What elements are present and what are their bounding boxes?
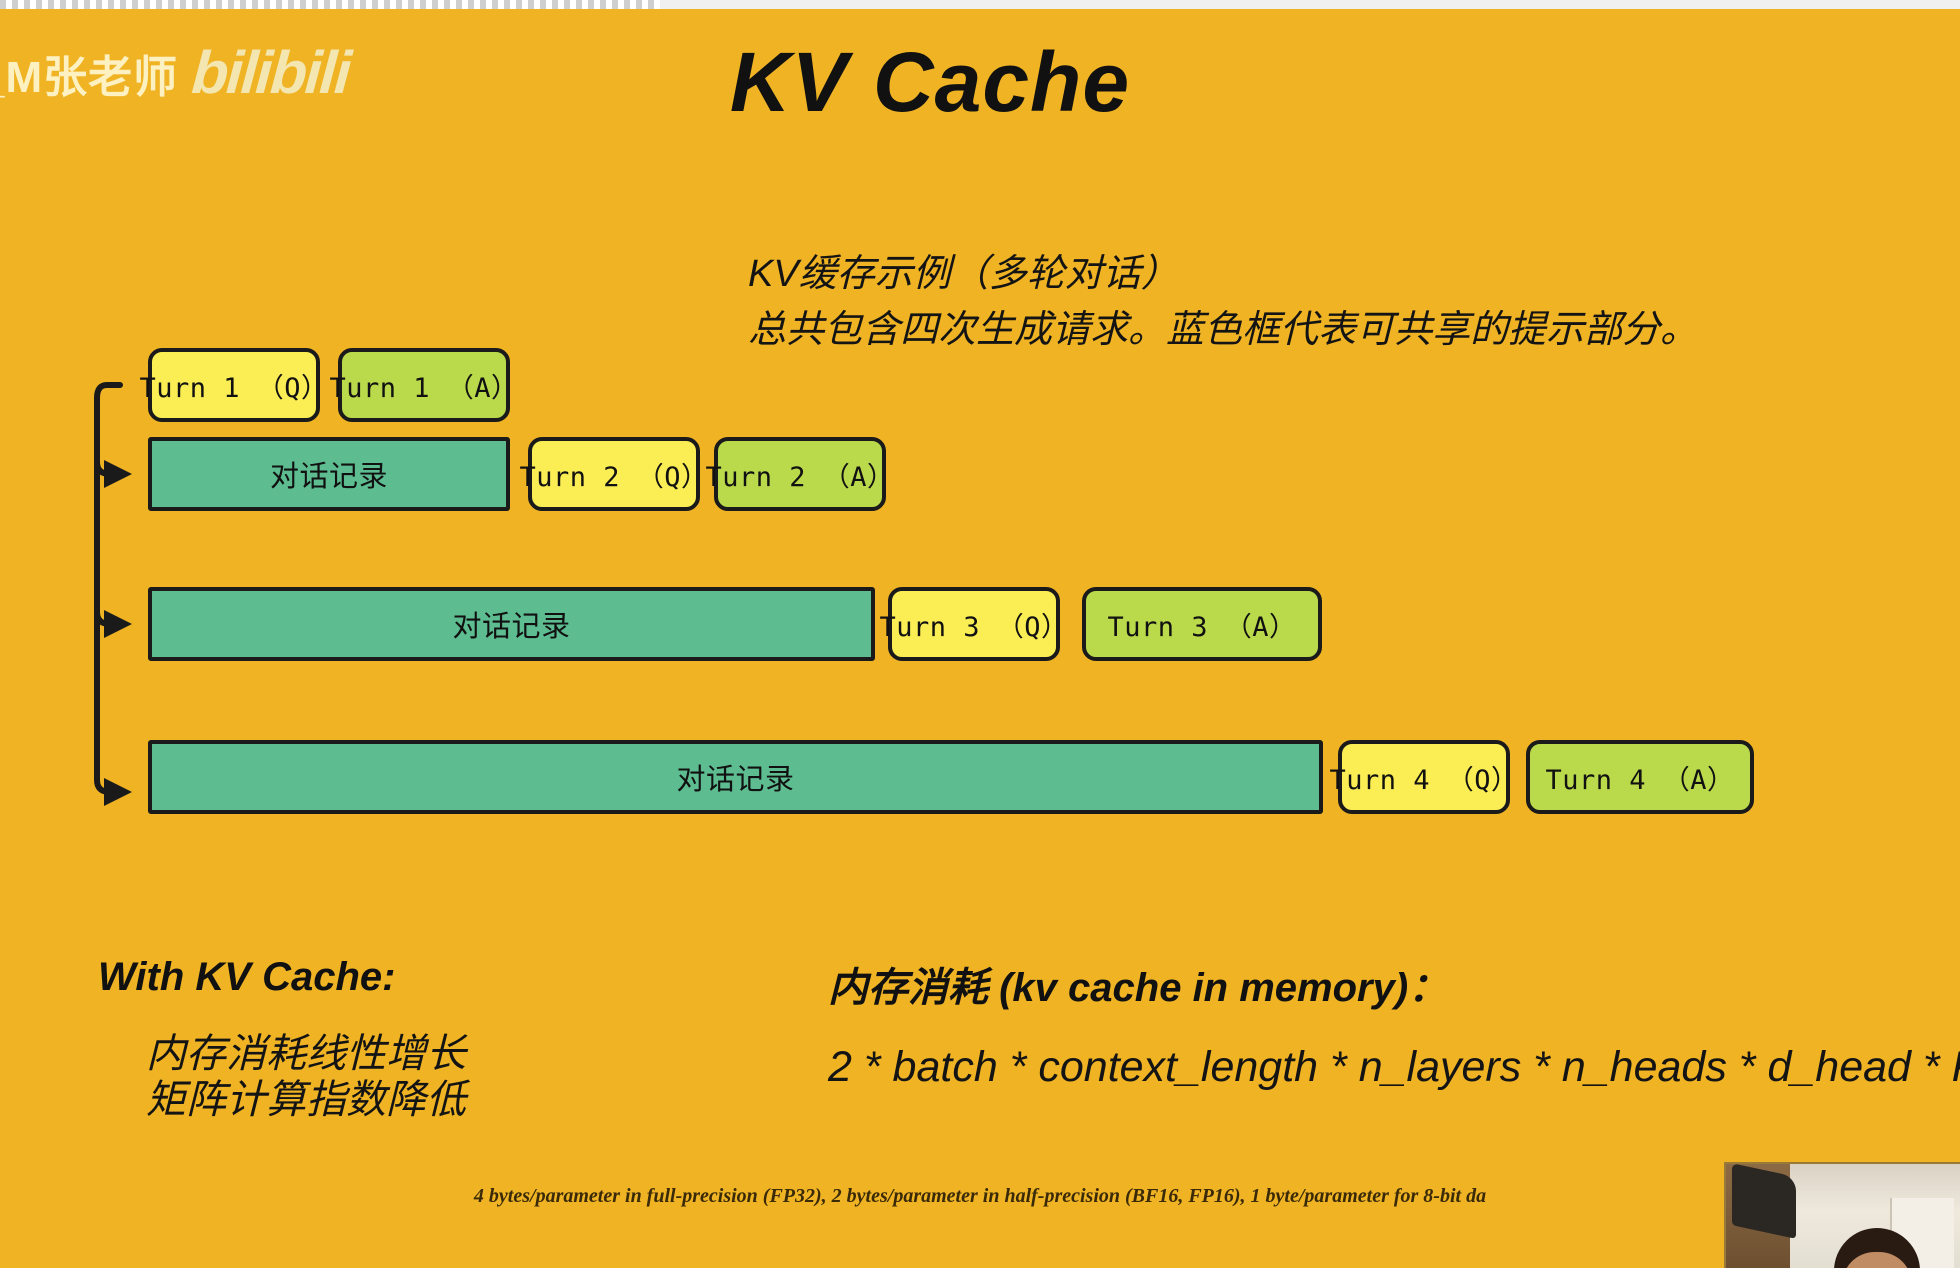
box-turn-4-answer[interactable]: Turn 4 （A） [1526,740,1754,814]
description-line-1: KV缓存示例（多轮对话） [748,246,1698,302]
box-turn-2-history[interactable]: 对话记录 [148,437,510,511]
box-turn-4-history[interactable]: 对话记录 [148,740,1323,814]
precision-footnote: 4 bytes/parameter in full-precision (FP3… [0,1185,1960,1208]
webcam-overlay[interactable] [1724,1162,1960,1268]
box-turn-2-question[interactable]: Turn 2 （Q） [528,437,700,511]
with-kv-cache-block: With KV Cache: 内存消耗线性增长 矩阵计算指数降低 [98,955,466,1123]
memory-consumption-heading: 内存消耗 (kv cache in memory)： [828,955,1960,1013]
slide-canvas: _M张老师 bilibili KV Cache KV缓存示例（多轮对话） 总共包… [0,0,1960,1268]
box-turn-2-answer[interactable]: Turn 2 （A） [714,437,886,511]
box-turn-3-history[interactable]: 对话记录 [148,587,875,661]
page-title: KV Cache [0,34,1910,131]
table-row: 对话记录 Turn 3 （Q） Turn 3 （A） [148,587,1322,661]
memory-consumption-formula: 2 * batch * context_length * n_layers * … [828,1043,1960,1092]
arrow-head-row3 [104,610,132,638]
with-kv-cache-point-1: 内存消耗线性增长 [146,1032,466,1078]
box-turn-3-question[interactable]: Turn 3 （Q） [888,587,1060,661]
table-row: 对话记录 Turn 4 （Q） Turn 4 （A） [148,740,1754,814]
table-row: Turn 1 （Q） Turn 1 （A） [148,348,510,422]
box-turn-4-question[interactable]: Turn 4 （Q） [1338,740,1510,814]
box-turn-3-answer[interactable]: Turn 3 （A） [1082,587,1322,661]
table-row: 对话记录 Turn 2 （Q） Turn 2 （A） [148,437,886,511]
with-kv-cache-point-2: 矩阵计算指数降低 [146,1078,466,1124]
kv-cache-diagram: Turn 1 （Q） Turn 1 （A） 对话记录 Turn 2 （Q） Tu… [0,340,1960,850]
memory-consumption-block: 内存消耗 (kv cache in memory)： 2 * batch * c… [828,955,1960,1092]
arrow-head-row4 [104,778,132,806]
with-kv-cache-heading: With KV Cache: [98,955,466,1000]
arrow-head-row2 [104,460,132,488]
window-top-strip-right [660,0,1960,9]
box-turn-1-question[interactable]: Turn 1 （Q） [148,348,320,422]
box-turn-1-answer[interactable]: Turn 1 （A） [338,348,510,422]
